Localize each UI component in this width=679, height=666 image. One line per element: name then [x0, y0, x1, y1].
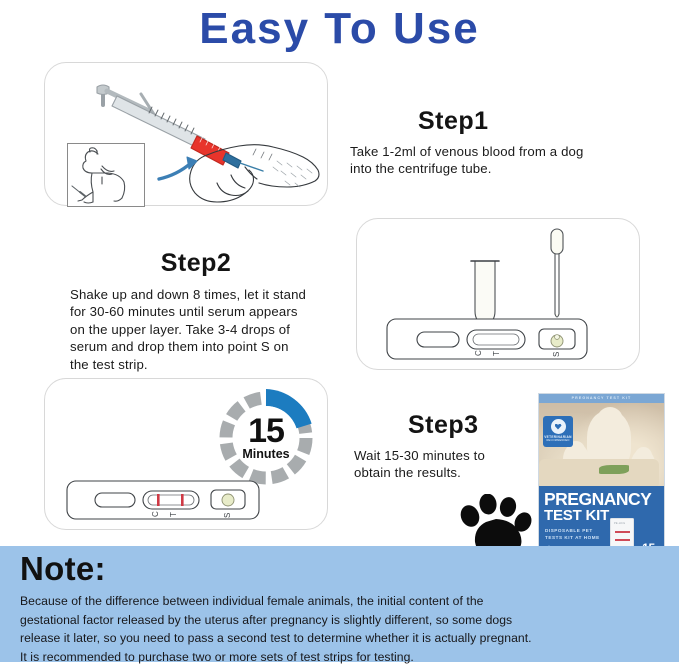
note-heading: Note:	[20, 550, 106, 588]
step2-heading: Step2	[50, 248, 342, 278]
step1-illustration-panel	[44, 62, 328, 206]
veterinarian-recommended-badge: VETERINARIAN RECOMMENDED	[543, 416, 573, 447]
test-strip-line-c	[615, 531, 630, 533]
product-box-top-strip: PREGNANCY TEST KIT	[539, 394, 664, 403]
note-body: Because of the difference between indivi…	[20, 592, 666, 666]
step2-text-block: Step2 Shake up and down 8 times, let it …	[50, 248, 342, 373]
cassette-label-t: T	[169, 512, 178, 517]
step1-heading: Step1	[350, 106, 670, 136]
step3-body: Wait 15-30 minutes to obtain the results…	[354, 447, 554, 482]
product-subtitle: DISPOSABLE PET TESTS KIT AT HOME	[545, 527, 600, 541]
page-title: Easy To Use	[0, 2, 679, 56]
cassette-label-s: S	[552, 352, 561, 357]
cassette-label-t: T	[492, 351, 501, 356]
product-title-line2: TEST KIT	[544, 508, 609, 524]
test-strip-label: PE-HCG	[614, 522, 625, 525]
step1-body: Take 1-2ml of venous blood from a dog in…	[350, 143, 670, 178]
cassette-label-c: C	[474, 350, 483, 356]
step3-heading: Step3	[354, 410, 554, 440]
heart-paw-icon	[551, 419, 566, 434]
dog-diagram-inset	[67, 143, 145, 207]
note-panel: Note: Because of the difference between …	[0, 546, 679, 662]
positive-cassette-illustration: C T S	[45, 379, 327, 529]
test-strip-line-t	[615, 539, 630, 541]
step1-text-block: Step1 Take 1-2ml of venous blood from a …	[350, 106, 670, 178]
vet-badge-line2: RECOMMENDED	[543, 439, 573, 443]
dog-body-diagram-icon	[68, 144, 144, 206]
step2-body: Shake up and down 8 times, let it stand …	[50, 286, 342, 373]
tube-dropper-cassette-illustration: C T S	[357, 219, 639, 369]
cassette-label-c: C	[151, 511, 160, 517]
step2-illustration-panel: C T S	[356, 218, 640, 370]
step3-illustration-panel: 15 Minutes C T S	[44, 378, 328, 530]
product-box-photo: VETERINARIAN RECOMMENDED	[539, 403, 664, 486]
product-title-line1: PREGNANCY	[544, 490, 651, 508]
step3-text-block: Step3 Wait 15-30 minutes to obtain the r…	[354, 410, 554, 482]
cassette-label-s: S	[223, 513, 232, 518]
